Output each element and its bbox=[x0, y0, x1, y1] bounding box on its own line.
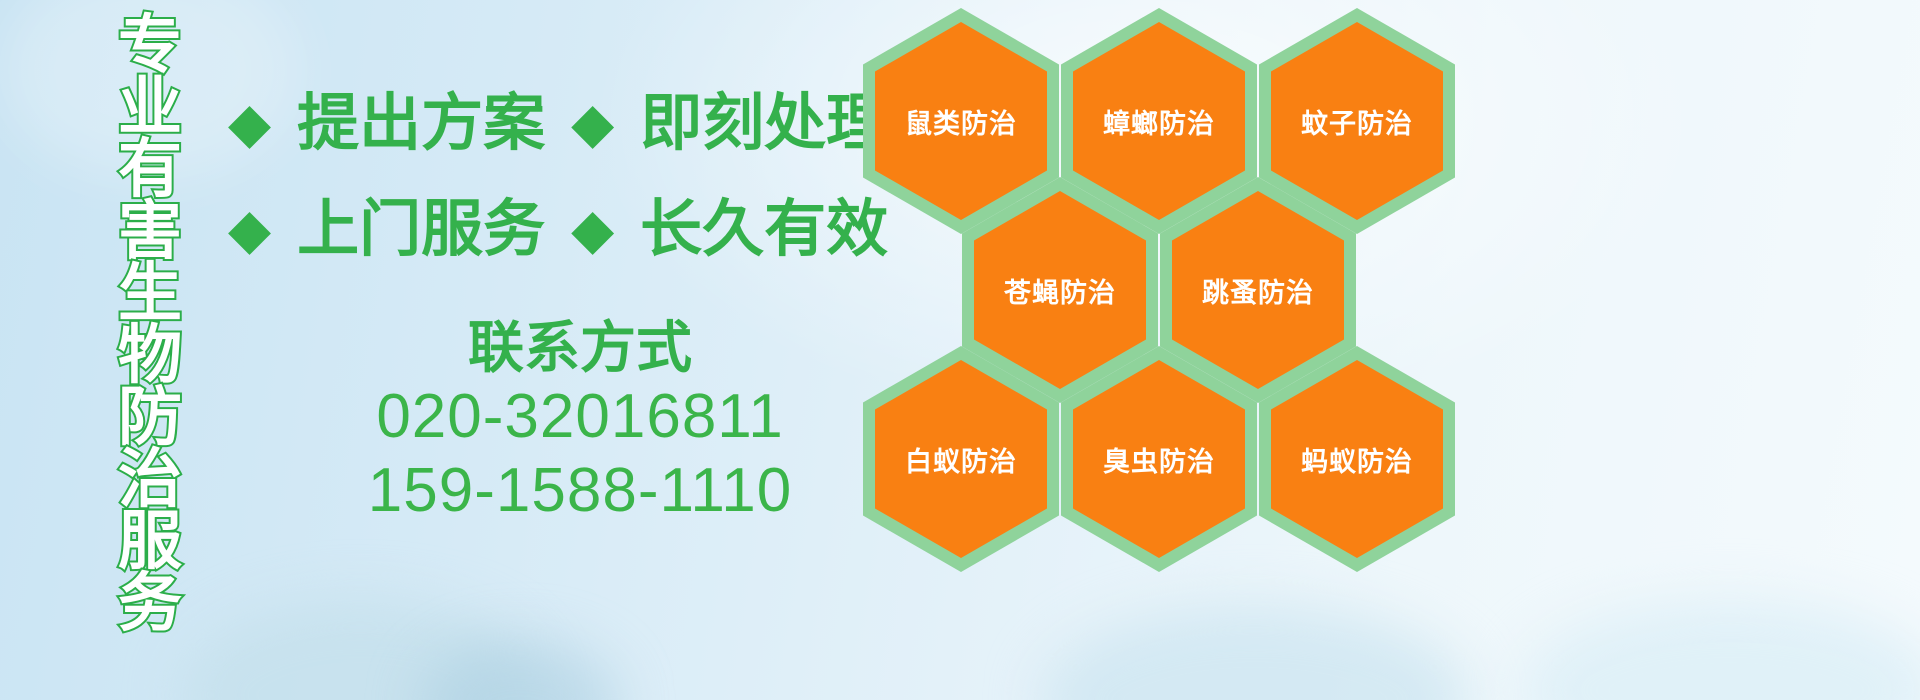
vertical-headline-char: 服 bbox=[104, 510, 196, 572]
slogan-text: 上门服务 bbox=[297, 195, 545, 264]
service-hex-inner: 蚂蚁防治 bbox=[1271, 360, 1443, 558]
service-honeycomb: 鼠类防治 蟑螂防治 蚊子防治 苍蝇防治 跳蚤防治 白蚁防治 bbox=[855, 0, 1475, 560]
slogan-text: 即刻处理 bbox=[640, 89, 888, 158]
phone-number-mobile[interactable]: 159-1588-1110 bbox=[300, 454, 860, 528]
service-hex-inner: 蚊子防治 bbox=[1271, 22, 1443, 220]
vertical-headline-char: 业 bbox=[104, 76, 196, 138]
background-blur-blob-1 bbox=[180, 600, 540, 700]
service-label: 蚂蚁防治 bbox=[1301, 440, 1413, 479]
vertical-headline-char: 害 bbox=[104, 200, 196, 262]
vertical-headline-char: 生 bbox=[104, 262, 196, 324]
service-hex-inner: 鼠类防治 bbox=[875, 22, 1047, 220]
vertical-headline-char: 防 bbox=[104, 386, 196, 448]
background-blur-blob-4 bbox=[1520, 600, 1920, 700]
slogan-line-1: ◆提出方案◆即刻处理 bbox=[228, 92, 888, 155]
service-label: 蚊子防治 bbox=[1301, 102, 1413, 141]
slogan-text: 提出方案 bbox=[297, 89, 545, 158]
slogan-text: 长久有效 bbox=[640, 195, 888, 264]
diamond-bullet-icon: ◆ bbox=[571, 91, 614, 154]
vertical-headline-char: 有 bbox=[104, 138, 196, 200]
service-label: 臭虫防治 bbox=[1103, 440, 1215, 479]
vertical-headline: 专 业 有 害 生 物 防 治 服 务 bbox=[104, 14, 196, 634]
contact-block: 联系方式 020-32016811 159-1588-1110 bbox=[300, 316, 860, 528]
service-hex-inner: 臭虫防治 bbox=[1073, 360, 1245, 558]
service-label: 白蚁防治 bbox=[905, 440, 1017, 479]
service-label: 跳蚤防治 bbox=[1202, 271, 1314, 310]
service-hex-inner: 苍蝇防治 bbox=[974, 191, 1146, 389]
service-label: 苍蝇防治 bbox=[1004, 271, 1116, 310]
vertical-headline-char: 务 bbox=[104, 572, 196, 634]
service-hex-inner: 蟑螂防治 bbox=[1073, 22, 1245, 220]
diamond-bullet-icon: ◆ bbox=[228, 91, 271, 154]
diamond-bullet-icon: ◆ bbox=[571, 197, 614, 260]
vertical-headline-char: 物 bbox=[104, 324, 196, 386]
vertical-headline-char: 治 bbox=[104, 448, 196, 510]
service-label: 鼠类防治 bbox=[905, 102, 1017, 141]
phone-number-landline[interactable]: 020-32016811 bbox=[300, 380, 860, 454]
contact-title: 联系方式 bbox=[300, 316, 860, 380]
diamond-bullet-icon: ◆ bbox=[228, 197, 271, 260]
pest-control-banner: 专 业 有 害 生 物 防 治 服 务 ◆提出方案◆即刻处理 ◆上门服务◆长久有… bbox=[0, 0, 1920, 700]
vertical-headline-char: 专 bbox=[104, 14, 196, 76]
service-hex-inner: 跳蚤防治 bbox=[1172, 191, 1344, 389]
slogan-line-2: ◆上门服务◆长久有效 bbox=[228, 198, 888, 261]
service-label: 蟑螂防治 bbox=[1103, 102, 1215, 141]
background-blur-blob-3 bbox=[1040, 605, 1470, 700]
background-blur-blob-2 bbox=[420, 640, 620, 700]
service-hex-inner: 白蚁防治 bbox=[875, 360, 1047, 558]
